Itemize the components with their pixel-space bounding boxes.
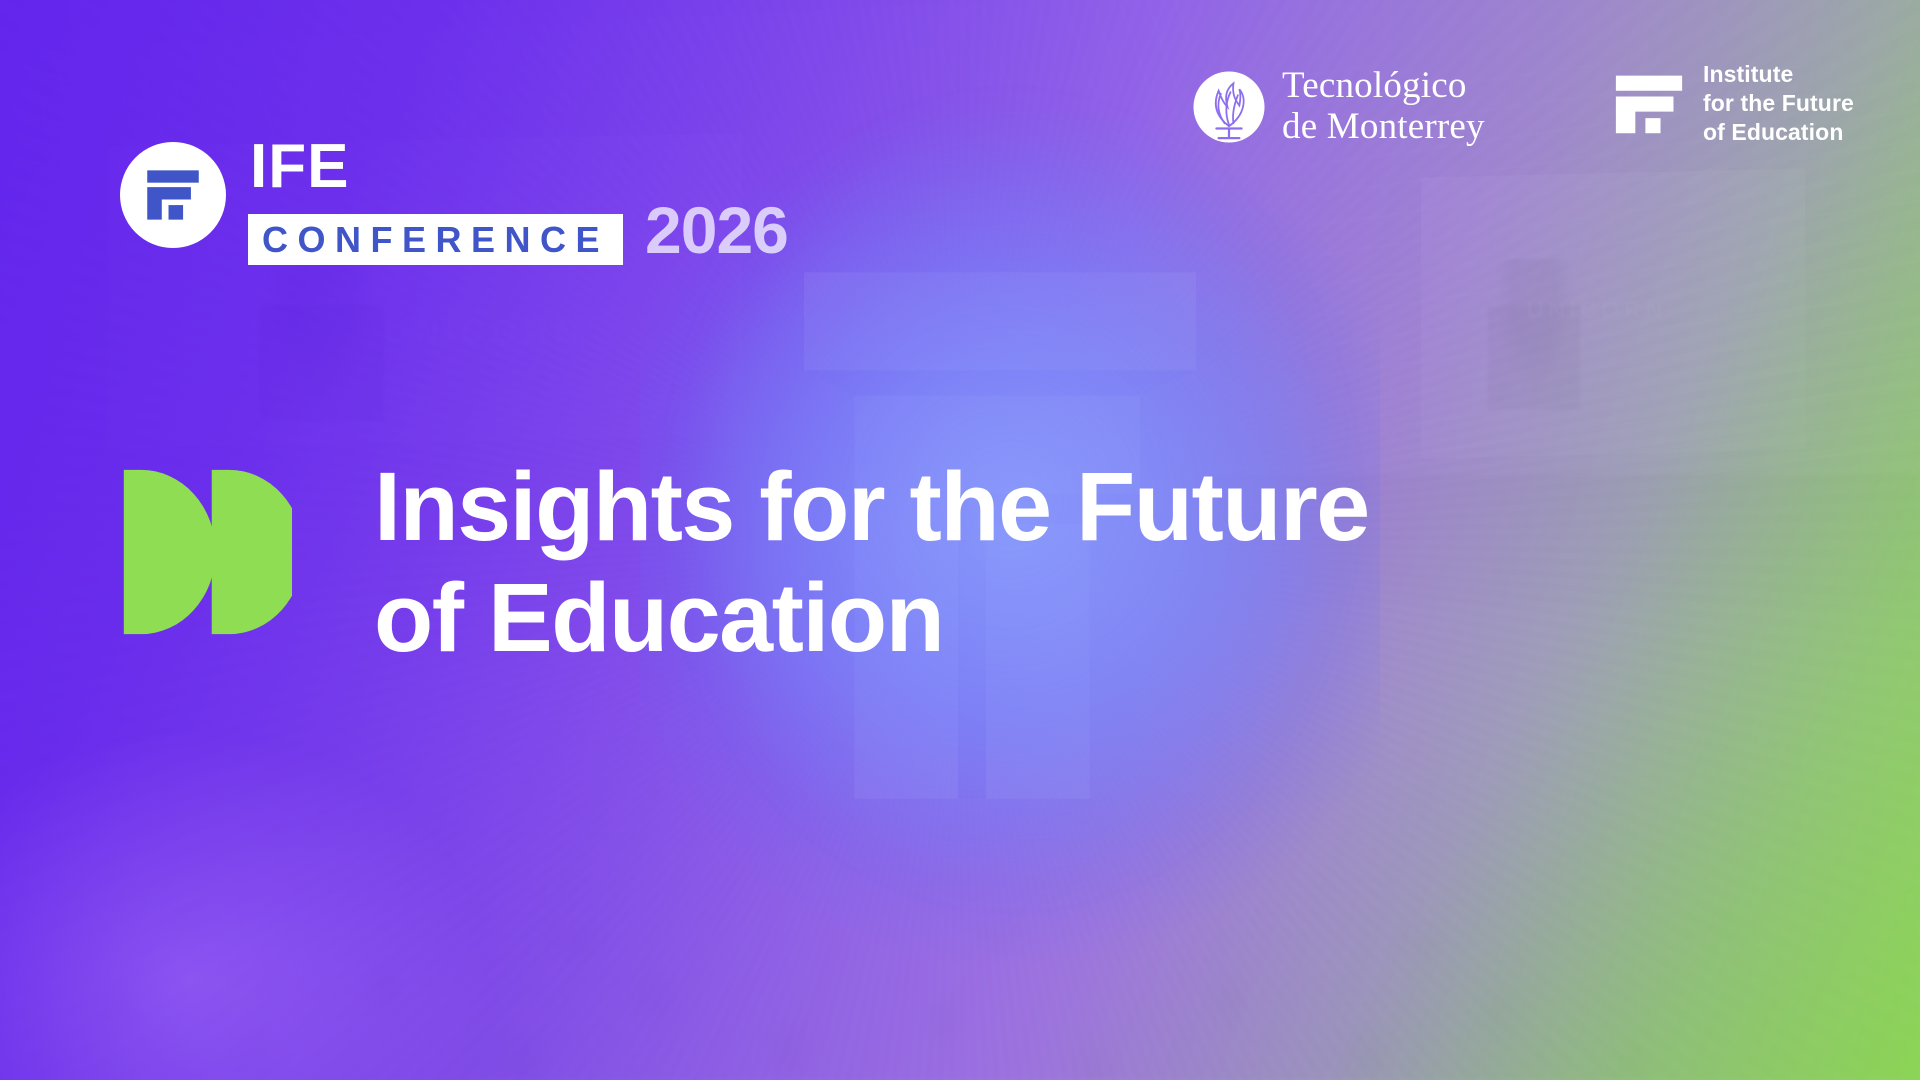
tec-wordmark-line2: de Monterrey: [1282, 107, 1485, 148]
tec-torch-icon: [1192, 70, 1266, 144]
tecnologico-de-monterrey-logo: Tecnológico de Monterrey: [1192, 66, 1485, 147]
conference-subtitle: CONFERENCE: [262, 222, 609, 258]
hero-title-line1: Insights for the Future: [374, 452, 1369, 561]
conference-year: 2026: [645, 197, 788, 265]
conference-name: IFE: [250, 138, 788, 197]
poster-content: IFE CONFERENCE 2026: [0, 0, 1920, 1080]
poster-canvas: UNICORN UNICORN: [0, 0, 1920, 1080]
ife-f-mark-icon: [120, 142, 226, 248]
tec-wordmark-line1: Tecnológico: [1282, 66, 1485, 107]
hero-headline-block: Insights for the Future of Education: [120, 452, 1369, 673]
tecnologico-de-monterrey-wordmark: Tecnológico de Monterrey: [1282, 66, 1485, 147]
ife-f-mark-icon: [1613, 67, 1685, 139]
conference-lockup: IFE CONFERENCE 2026: [120, 138, 788, 265]
page-title: Insights for the Future of Education: [374, 452, 1369, 673]
institute-future-education-wordmark: Institute for the Future of Education: [1703, 60, 1854, 147]
institute-future-education-logo: Institute for the Future of Education: [1613, 60, 1854, 147]
conference-subtitle-row: CONFERENCE 2026: [248, 197, 788, 265]
double-d-mark-icon: [120, 466, 292, 638]
hero-title-line2: of Education: [374, 563, 1369, 674]
ife-wordmark-line1: Institute: [1703, 60, 1854, 89]
ife-wordmark-line2: for the Future: [1703, 89, 1854, 118]
conference-lockup-text: IFE CONFERENCE 2026: [248, 138, 788, 265]
ife-wordmark-line3: of Education: [1703, 118, 1854, 147]
conference-subtitle-band: CONFERENCE: [248, 214, 623, 265]
